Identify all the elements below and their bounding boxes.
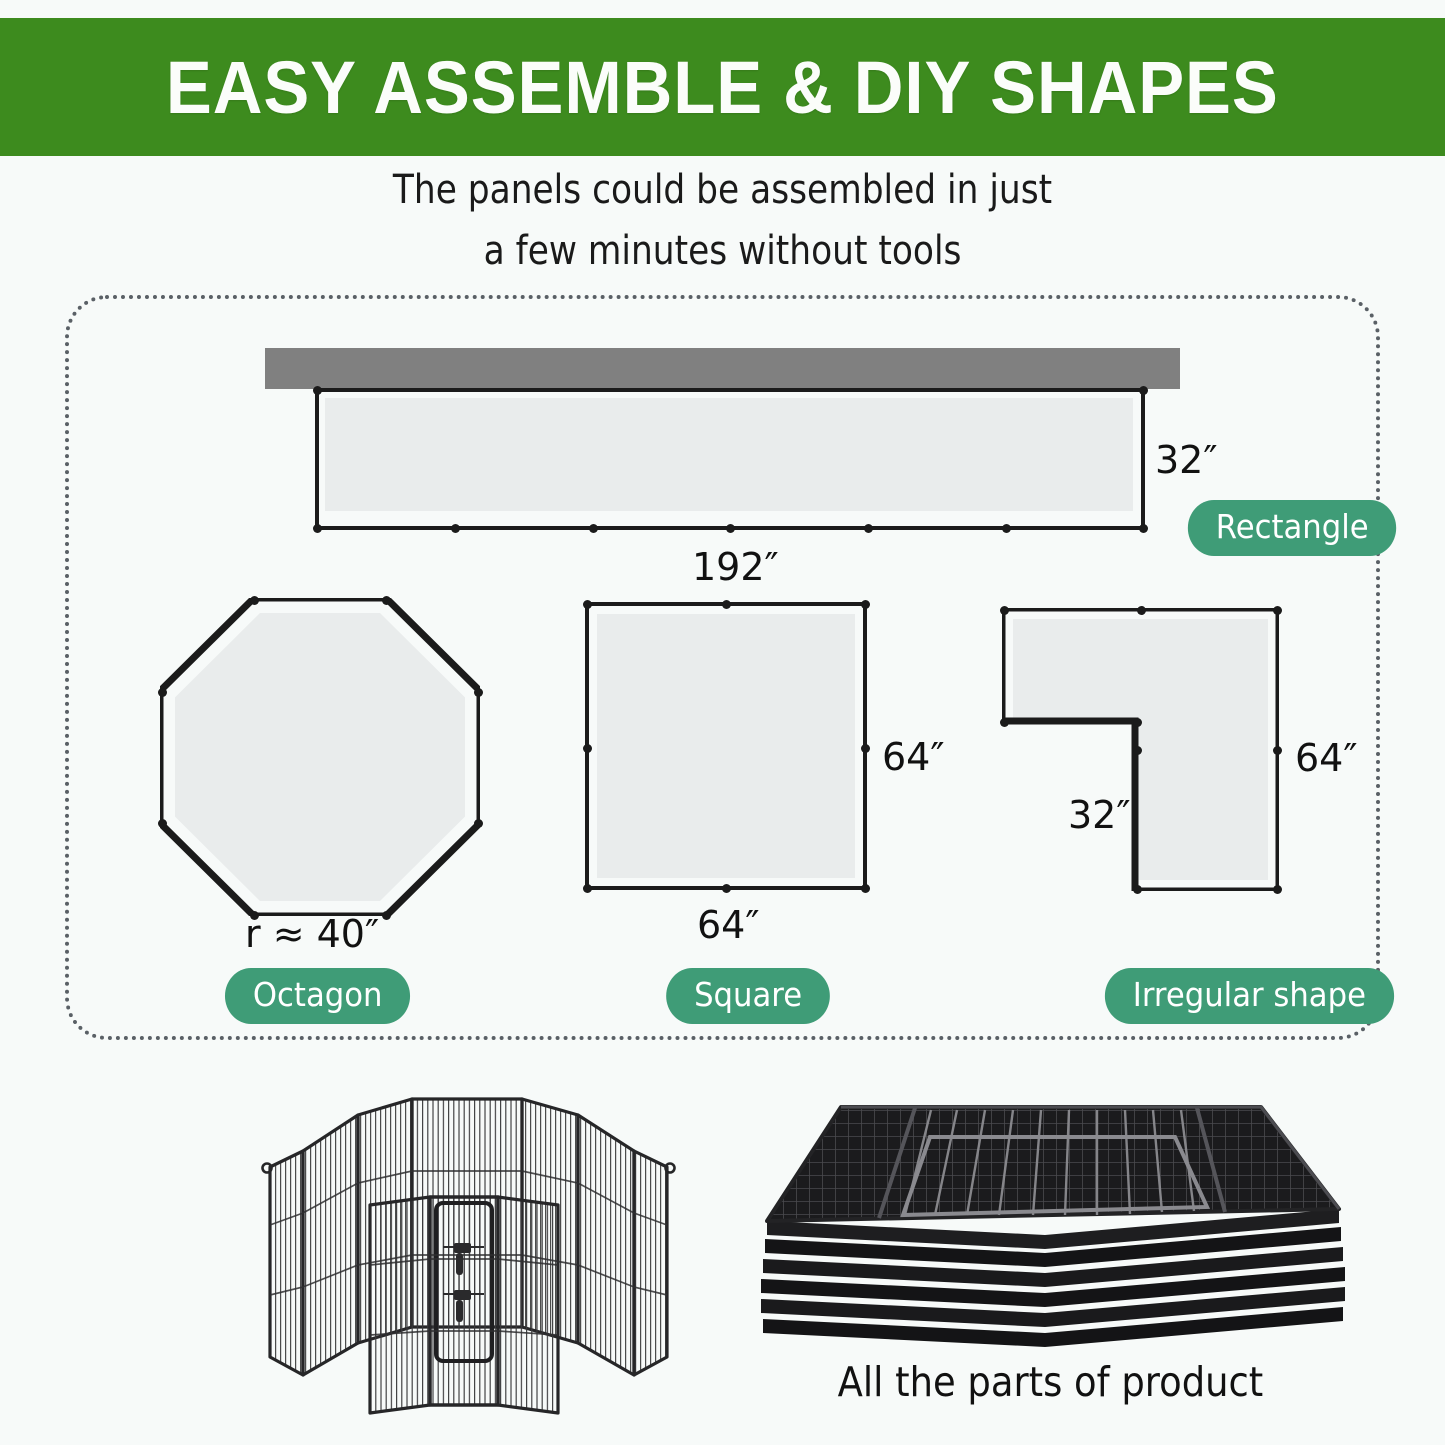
rectangle-top-panel-bar (265, 348, 1180, 389)
irregular-joint (1273, 746, 1282, 755)
rectangle-joint (451, 524, 460, 533)
irregular-joint (1133, 718, 1142, 727)
badge-irregular-shape: Irregular shape (1105, 968, 1394, 1024)
square-joint (583, 744, 592, 753)
rectangle-joint (726, 524, 735, 533)
square-joint (722, 884, 731, 893)
octagon-joint (474, 819, 483, 828)
rectangle-joint (589, 524, 598, 533)
octagon-radius-dimension: r ≈ 40″ (245, 912, 379, 956)
octagon-outline (160, 598, 480, 916)
octagon-joint (250, 596, 259, 605)
irregular-joint (1133, 885, 1142, 894)
square-outline (585, 602, 867, 890)
square-joint (583, 600, 592, 609)
irregular-height-dimension: 64″ (1295, 736, 1358, 780)
product-caption: All the parts of product (745, 1358, 1355, 1406)
rectangle-joint (1139, 386, 1148, 395)
square-joint (861, 600, 870, 609)
irregular-joint (1000, 606, 1009, 615)
assembled-playpen-image (240, 1075, 710, 1425)
square-height-dimension: 64″ (882, 735, 945, 779)
rectangle-joint (864, 524, 873, 533)
octagon-joint (158, 819, 167, 828)
rectangle-outline (315, 388, 1145, 530)
rectangle-joint (313, 386, 322, 395)
octagon-joint (158, 688, 167, 697)
square-joint (861, 884, 870, 893)
product-caption-text: All the parts of product (837, 1358, 1263, 1406)
irregular-notch-dimension: 32″ (1068, 793, 1131, 837)
irregular-joint (1273, 606, 1282, 615)
rectangle-joint (1002, 524, 1011, 533)
irregular-joint (1137, 606, 1146, 615)
folded-panels-stack-image (745, 1085, 1355, 1350)
irregular-joint (1000, 718, 1009, 727)
octagon-joint (382, 596, 391, 605)
rectangle-height-dimension: 32″ (1155, 438, 1218, 482)
octagon-joint (474, 688, 483, 697)
rectangle-joint (313, 524, 322, 533)
badge-rectangle: Rectangle (1188, 500, 1397, 556)
octagon-joint (382, 911, 391, 920)
badge-octagon: Octagon (225, 968, 410, 1024)
square-joint (583, 884, 592, 893)
square-width-dimension: 64″ (697, 903, 760, 947)
rectangle-joint (1139, 524, 1148, 533)
square-joint (722, 600, 731, 609)
irregular-joint (1273, 885, 1282, 894)
rectangle-width-dimension: 192″ (692, 545, 779, 589)
square-joint (861, 744, 870, 753)
irregular-joint (1133, 746, 1142, 755)
badge-square: Square (666, 968, 830, 1024)
